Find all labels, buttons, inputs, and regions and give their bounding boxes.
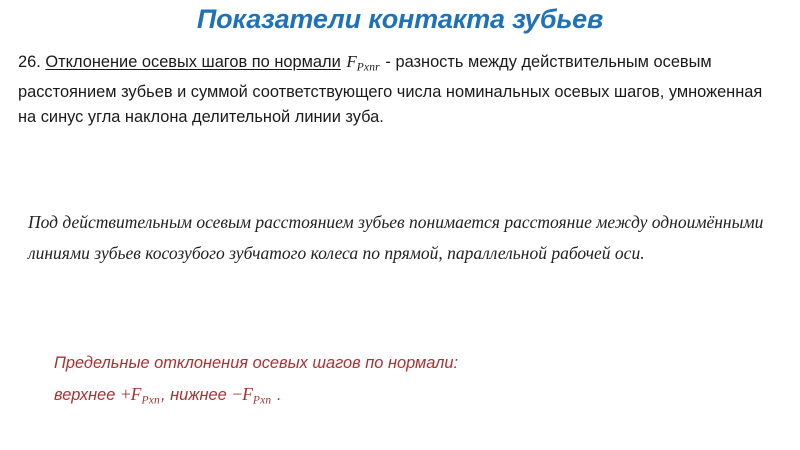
- limits-upper-symbol: +FPxn: [120, 384, 161, 404]
- definition-term: Отклонение осевых шагов по нормали: [45, 53, 340, 71]
- limits-lower-symbol: −FPxn: [231, 384, 272, 404]
- limits-terminator: .: [277, 386, 282, 404]
- slide-canvas: Показатели контакта зубьев 26. Отклонени…: [0, 0, 800, 450]
- limits-lower-base: F: [242, 384, 253, 404]
- symbol-subscript: Pxnr: [357, 62, 380, 74]
- limits-lower-label: нижнее: [170, 386, 227, 404]
- limits-upper-sign: +: [121, 384, 131, 404]
- limits-lower-sub: Pxn: [253, 395, 271, 407]
- definition-dash: -: [385, 53, 390, 71]
- limits-upper-label: верхнее: [54, 386, 115, 404]
- limits-block: Предельные отклонения осевых шагов по но…: [54, 348, 774, 417]
- limits-separator: ,: [161, 386, 166, 404]
- limits-heading: Предельные отклонения осевых шагов по но…: [54, 348, 774, 379]
- limits-upper-base: F: [131, 384, 142, 404]
- definition-number: 26.: [18, 53, 41, 71]
- limits-lower-sign: −: [232, 384, 242, 404]
- limits-upper-sub: Pxn: [141, 395, 159, 407]
- explanation-paragraph: Под действительным осевым расстоянием зу…: [28, 207, 783, 269]
- explanation-text: Под действительным осевым расстоянием зу…: [28, 212, 763, 263]
- symbol-base: F: [346, 52, 356, 71]
- definition-paragraph: 26. Отклонение осевых шагов по нормали F…: [18, 50, 778, 129]
- limits-values-line: верхнее +FPxn, нижнее −FPxn .: [54, 379, 774, 417]
- page-title: Показатели контакта зубьев: [0, 2, 800, 36]
- symbol-f-pxnr: FPxnr: [345, 52, 381, 71]
